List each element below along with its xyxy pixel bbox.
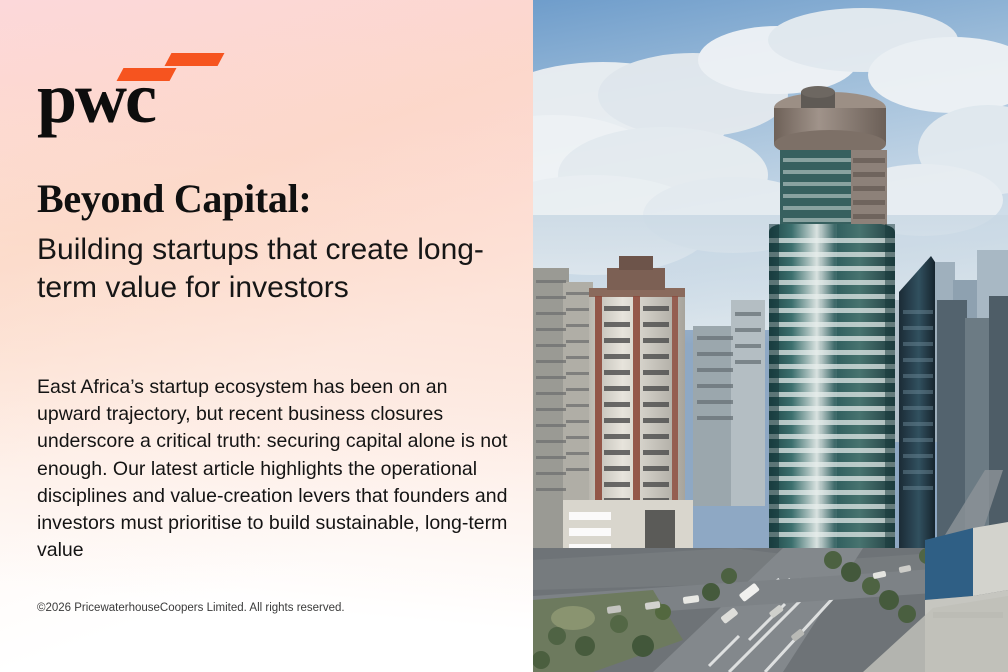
page-title: Beyond Capital: xyxy=(37,176,311,222)
content-panel: pwc Beyond Capital: Building startups th… xyxy=(0,0,533,672)
midground-buildings xyxy=(693,300,765,506)
pwc-promo-banner: pwc Beyond Capital: Building startups th… xyxy=(0,0,1008,672)
copyright-notice: ©2026 PricewaterhouseCoopers Limited. Al… xyxy=(37,601,345,616)
page-subtitle: Building startups that create long-term … xyxy=(37,231,507,307)
pwc-logo: pwc xyxy=(37,52,227,132)
pwc-wordmark: pwc xyxy=(37,62,155,134)
cityscape-photo xyxy=(533,0,1008,672)
logo-parallelogram-right xyxy=(165,53,225,66)
cityscape-illustration xyxy=(533,0,1008,672)
content-column: pwc Beyond Capital: Building startups th… xyxy=(37,0,507,672)
body-paragraph: East Africa’s startup ecosystem has been… xyxy=(37,374,512,564)
